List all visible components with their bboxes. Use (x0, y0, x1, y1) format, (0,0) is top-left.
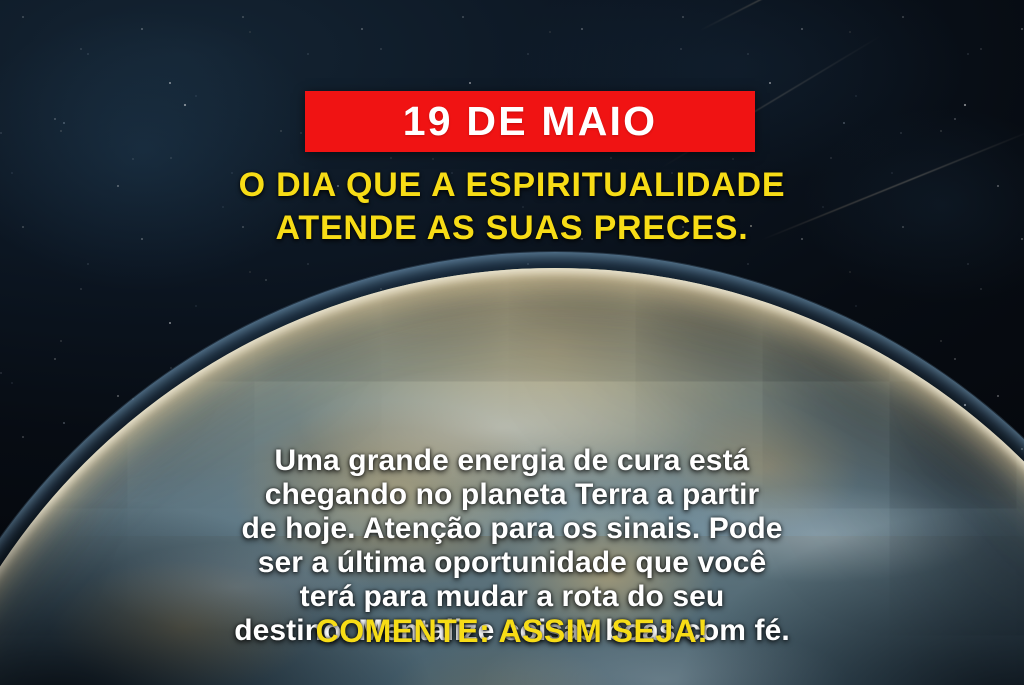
body-line-2: chegando no planeta Terra a partir (28, 478, 996, 512)
body-line-5: terá para mudar a rota do seu (28, 580, 996, 614)
body-line-4: ser a última oportunidade que você (28, 546, 996, 580)
body-line-1: Uma grande energia de cura está (28, 444, 996, 478)
headline-line-1: O DIA QUE A ESPIRITUALIDADE (40, 164, 984, 207)
headline-line-2: ATENDE AS SUAS PRECES. (40, 207, 984, 250)
poster-content: 19 DE MAIO O DIA QUE A ESPIRITUALIDADE A… (0, 0, 1024, 685)
date-banner-text: 19 DE MAIO (403, 101, 657, 142)
call-to-action-text: COMENTE: ASSIM SEJA! (0, 614, 1024, 649)
headline: O DIA QUE A ESPIRITUALIDADE ATENDE AS SU… (0, 164, 1024, 250)
date-banner: 19 DE MAIO (305, 91, 755, 152)
body-line-3: de hoje. Atenção para os sinais. Pode (28, 512, 996, 546)
poster-canvas: 19 DE MAIO O DIA QUE A ESPIRITUALIDADE A… (0, 0, 1024, 685)
